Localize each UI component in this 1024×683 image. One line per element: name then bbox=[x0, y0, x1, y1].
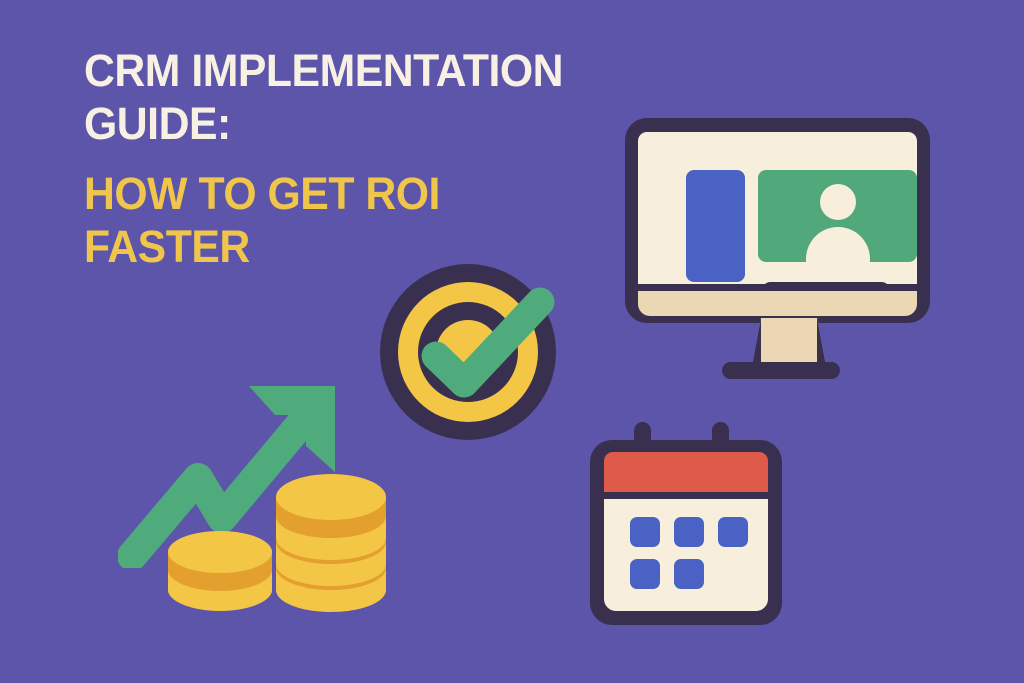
calendar-empty-cell bbox=[718, 559, 748, 589]
monitor-stand-neck bbox=[752, 318, 826, 366]
monitor-screen bbox=[638, 132, 917, 284]
calendar-header-band bbox=[604, 452, 768, 492]
calendar-icon bbox=[578, 420, 793, 630]
crm-dashboard-monitor-icon bbox=[620, 112, 940, 392]
monitor-stand-base bbox=[722, 362, 840, 379]
calendar-date-grid bbox=[630, 517, 748, 589]
calendar-date-cell bbox=[674, 559, 704, 589]
target-checkmark-icon bbox=[378, 262, 568, 442]
headline-block: CRM IMPLEMENTATION GUIDE: HOW TO GET ROI… bbox=[84, 44, 704, 273]
sidebar-panel bbox=[686, 170, 745, 282]
calendar-date-cell bbox=[630, 517, 660, 547]
calendar-date-cell bbox=[630, 559, 660, 589]
calendar-date-cell bbox=[674, 517, 704, 547]
monitor-chin-bar bbox=[638, 291, 917, 316]
poster-canvas: CRM IMPLEMENTATION GUIDE: HOW TO GET ROI… bbox=[0, 0, 1024, 683]
calendar-frame bbox=[590, 440, 782, 625]
headline-line-2: GUIDE: bbox=[84, 97, 673, 150]
monitor-frame bbox=[625, 118, 930, 323]
coin-top-face bbox=[168, 531, 272, 573]
coin-stack-short-icon bbox=[166, 530, 274, 616]
contact-card bbox=[758, 170, 917, 262]
person-avatar-head bbox=[820, 184, 856, 220]
coin-stack-tall-icon bbox=[274, 472, 388, 618]
calendar-date-cell bbox=[718, 517, 748, 547]
headline-line-3: HOW TO GET ROI bbox=[84, 167, 673, 220]
calendar-body bbox=[604, 499, 768, 611]
person-avatar-body bbox=[806, 227, 870, 262]
headline-line-1: CRM IMPLEMENTATION bbox=[84, 44, 673, 97]
coin-1-face bbox=[276, 474, 386, 520]
